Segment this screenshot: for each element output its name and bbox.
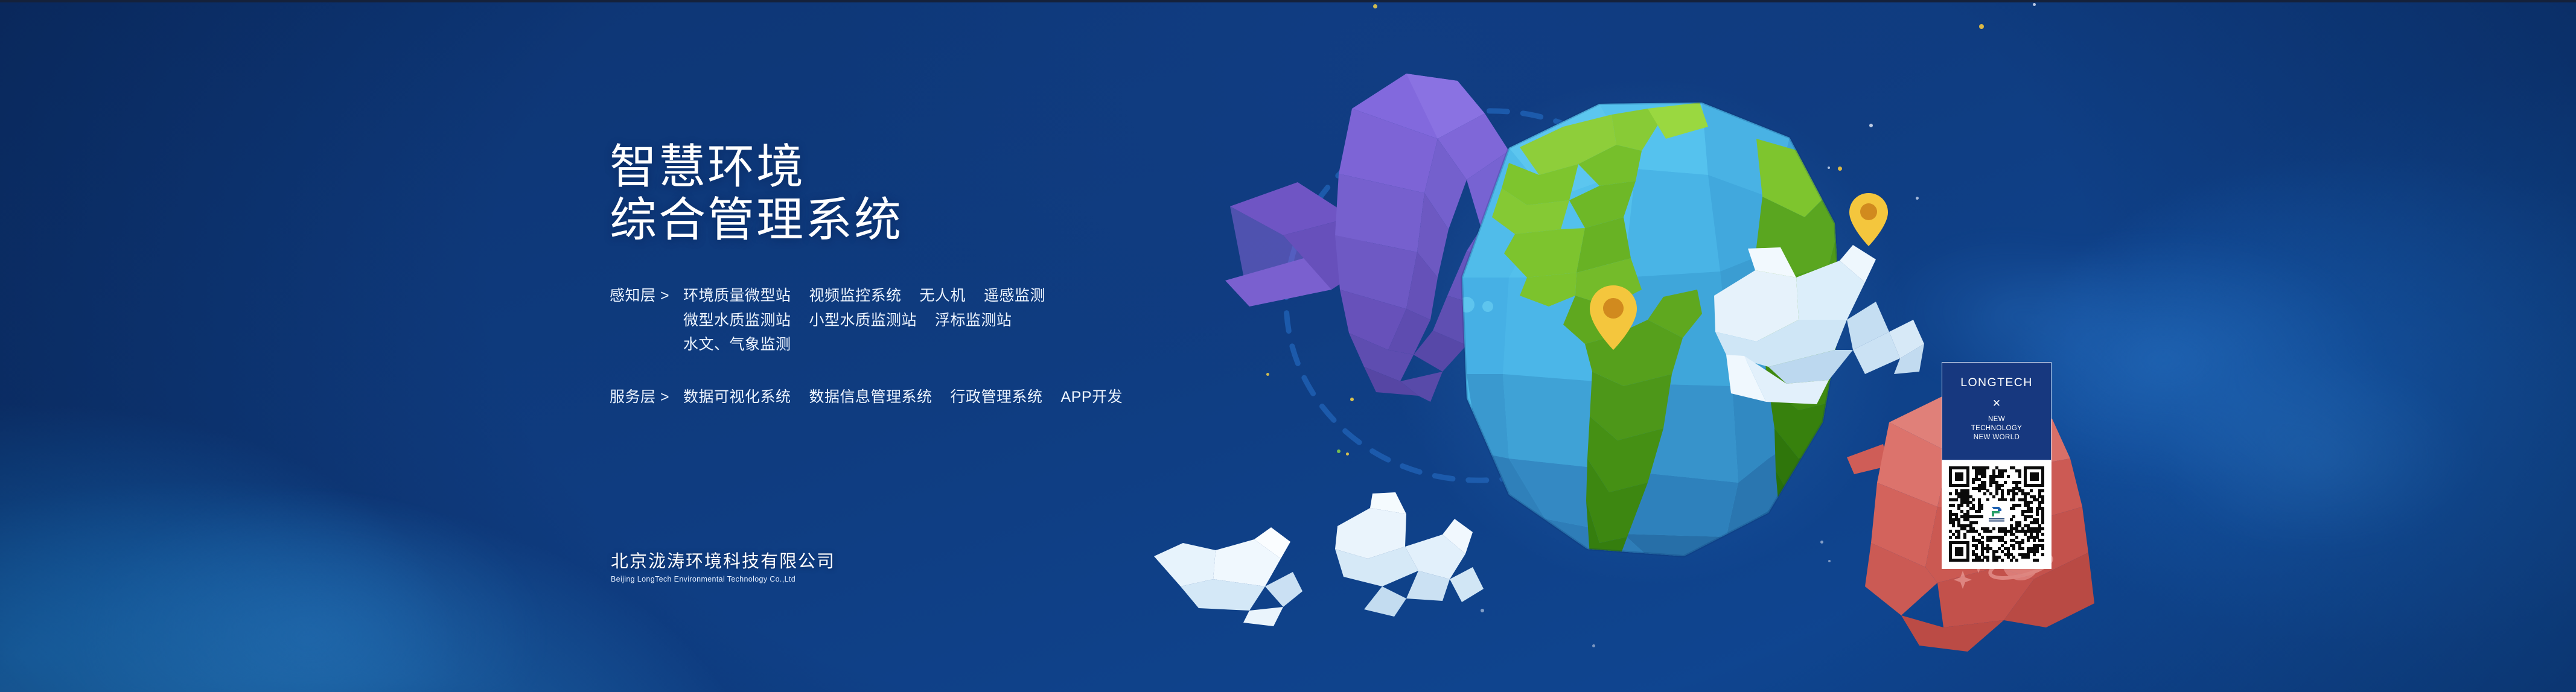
company-name-en: Beijing LongTech Environmental Technolog… [611, 575, 835, 583]
top-edge-line [0, 0, 2576, 2]
brand-name: LONGTECH [1960, 377, 2033, 389]
layer-item[interactable]: 无人机 [920, 284, 966, 308]
qr-promo-card[interactable]: LONGTECH ✕ NEW TECHNOLOGY NEW WORLD [1942, 362, 2052, 569]
layer-item[interactable]: 环境质量微型站 [683, 284, 791, 308]
headline-line-1: 智慧环境 [610, 140, 1286, 193]
company-name-cn: 北京泷涛环境科技有限公司 [611, 553, 835, 572]
star-dot [2033, 3, 2036, 6]
qr-center-logo [1985, 502, 2009, 526]
headline-and-layers: 智慧环境 综合管理系统 感知层 >环境质量微型站视频监控系统无人机遥感监测微型水… [610, 140, 1286, 437]
layer-item[interactable]: 行政管理系统 [951, 385, 1043, 410]
cross-icon: ✕ [1992, 398, 2001, 408]
layer-item[interactable]: 遥感监测 [984, 284, 1045, 308]
qr-code-image[interactable] [1949, 466, 2044, 562]
star-dot [1373, 4, 1377, 8]
cloud-left [1335, 492, 1484, 617]
headline-line-2: 综合管理系统 [610, 193, 1286, 246]
layer-item[interactable]: 小型水质监测站 [809, 308, 917, 333]
logo-text-placeholder [1989, 518, 2004, 522]
logo-mark-icon [1990, 506, 2003, 518]
layer-value-line: 水文、气象监测 [683, 332, 1045, 357]
tagline-line-2: TECHNOLOGY [1971, 424, 2023, 433]
layer-list: 感知层 >环境质量微型站视频监控系统无人机遥感监测微型水质监测站小型水质监测站浮… [610, 284, 1286, 409]
layer-key-label: 服务层 > [610, 385, 683, 410]
layer-group: 感知层 >环境质量微型站视频监控系统无人机遥感监测微型水质监测站小型水质监测站浮… [610, 284, 1286, 357]
layer-item[interactable]: 视频监控系统 [809, 284, 902, 308]
layer-value-line: 数据可视化系统数据信息管理系统行政管理系统APP开发 [683, 385, 1123, 410]
layer-item[interactable]: 浮标监测站 [935, 308, 1012, 333]
layer-item[interactable]: APP开发 [1061, 385, 1123, 410]
promo-banner: 智慧环境 综合管理系统 感知层 >环境质量微型站视频监控系统无人机遥感监测微型水… [0, 0, 2576, 692]
low-poly-earth-space-scene [1225, 36, 2028, 640]
layer-item[interactable]: 微型水质监测站 [683, 308, 791, 333]
layer-group: 服务层 >数据可视化系统数据信息管理系统行政管理系统APP开发 [610, 385, 1286, 410]
layer-values: 环境质量微型站视频监控系统无人机遥感监测微型水质监测站小型水质监测站浮标监测站水… [683, 284, 1045, 357]
star-dot [1979, 24, 1984, 29]
tagline-line-1: NEW [1971, 415, 2023, 424]
layer-item[interactable]: 数据可视化系统 [683, 385, 791, 410]
layer-value-line: 微型水质监测站小型水质监测站浮标监测站 [683, 308, 1045, 333]
layer-values: 数据可视化系统数据信息管理系统行政管理系统APP开发 [683, 385, 1123, 410]
company-signature: 北京泷涛环境科技有限公司 Beijing LongTech Environmen… [611, 553, 835, 583]
star-dot [1592, 644, 1595, 647]
layer-value-line: 环境质量微型站视频监控系统无人机遥感监测 [683, 284, 1045, 308]
qr-card-header: LONGTECH ✕ NEW TECHNOLOGY NEW WORLD [1942, 362, 2052, 460]
brand-tagline: NEW TECHNOLOGY NEW WORLD [1971, 415, 2023, 443]
layer-item[interactable]: 数据信息管理系统 [809, 385, 933, 410]
layer-key-label: 感知层 > [610, 284, 683, 308]
qr-code-panel[interactable] [1942, 460, 2052, 569]
tagline-line-3: NEW WORLD [1971, 433, 2023, 442]
layer-item[interactable]: 水文、气象监测 [683, 332, 791, 357]
